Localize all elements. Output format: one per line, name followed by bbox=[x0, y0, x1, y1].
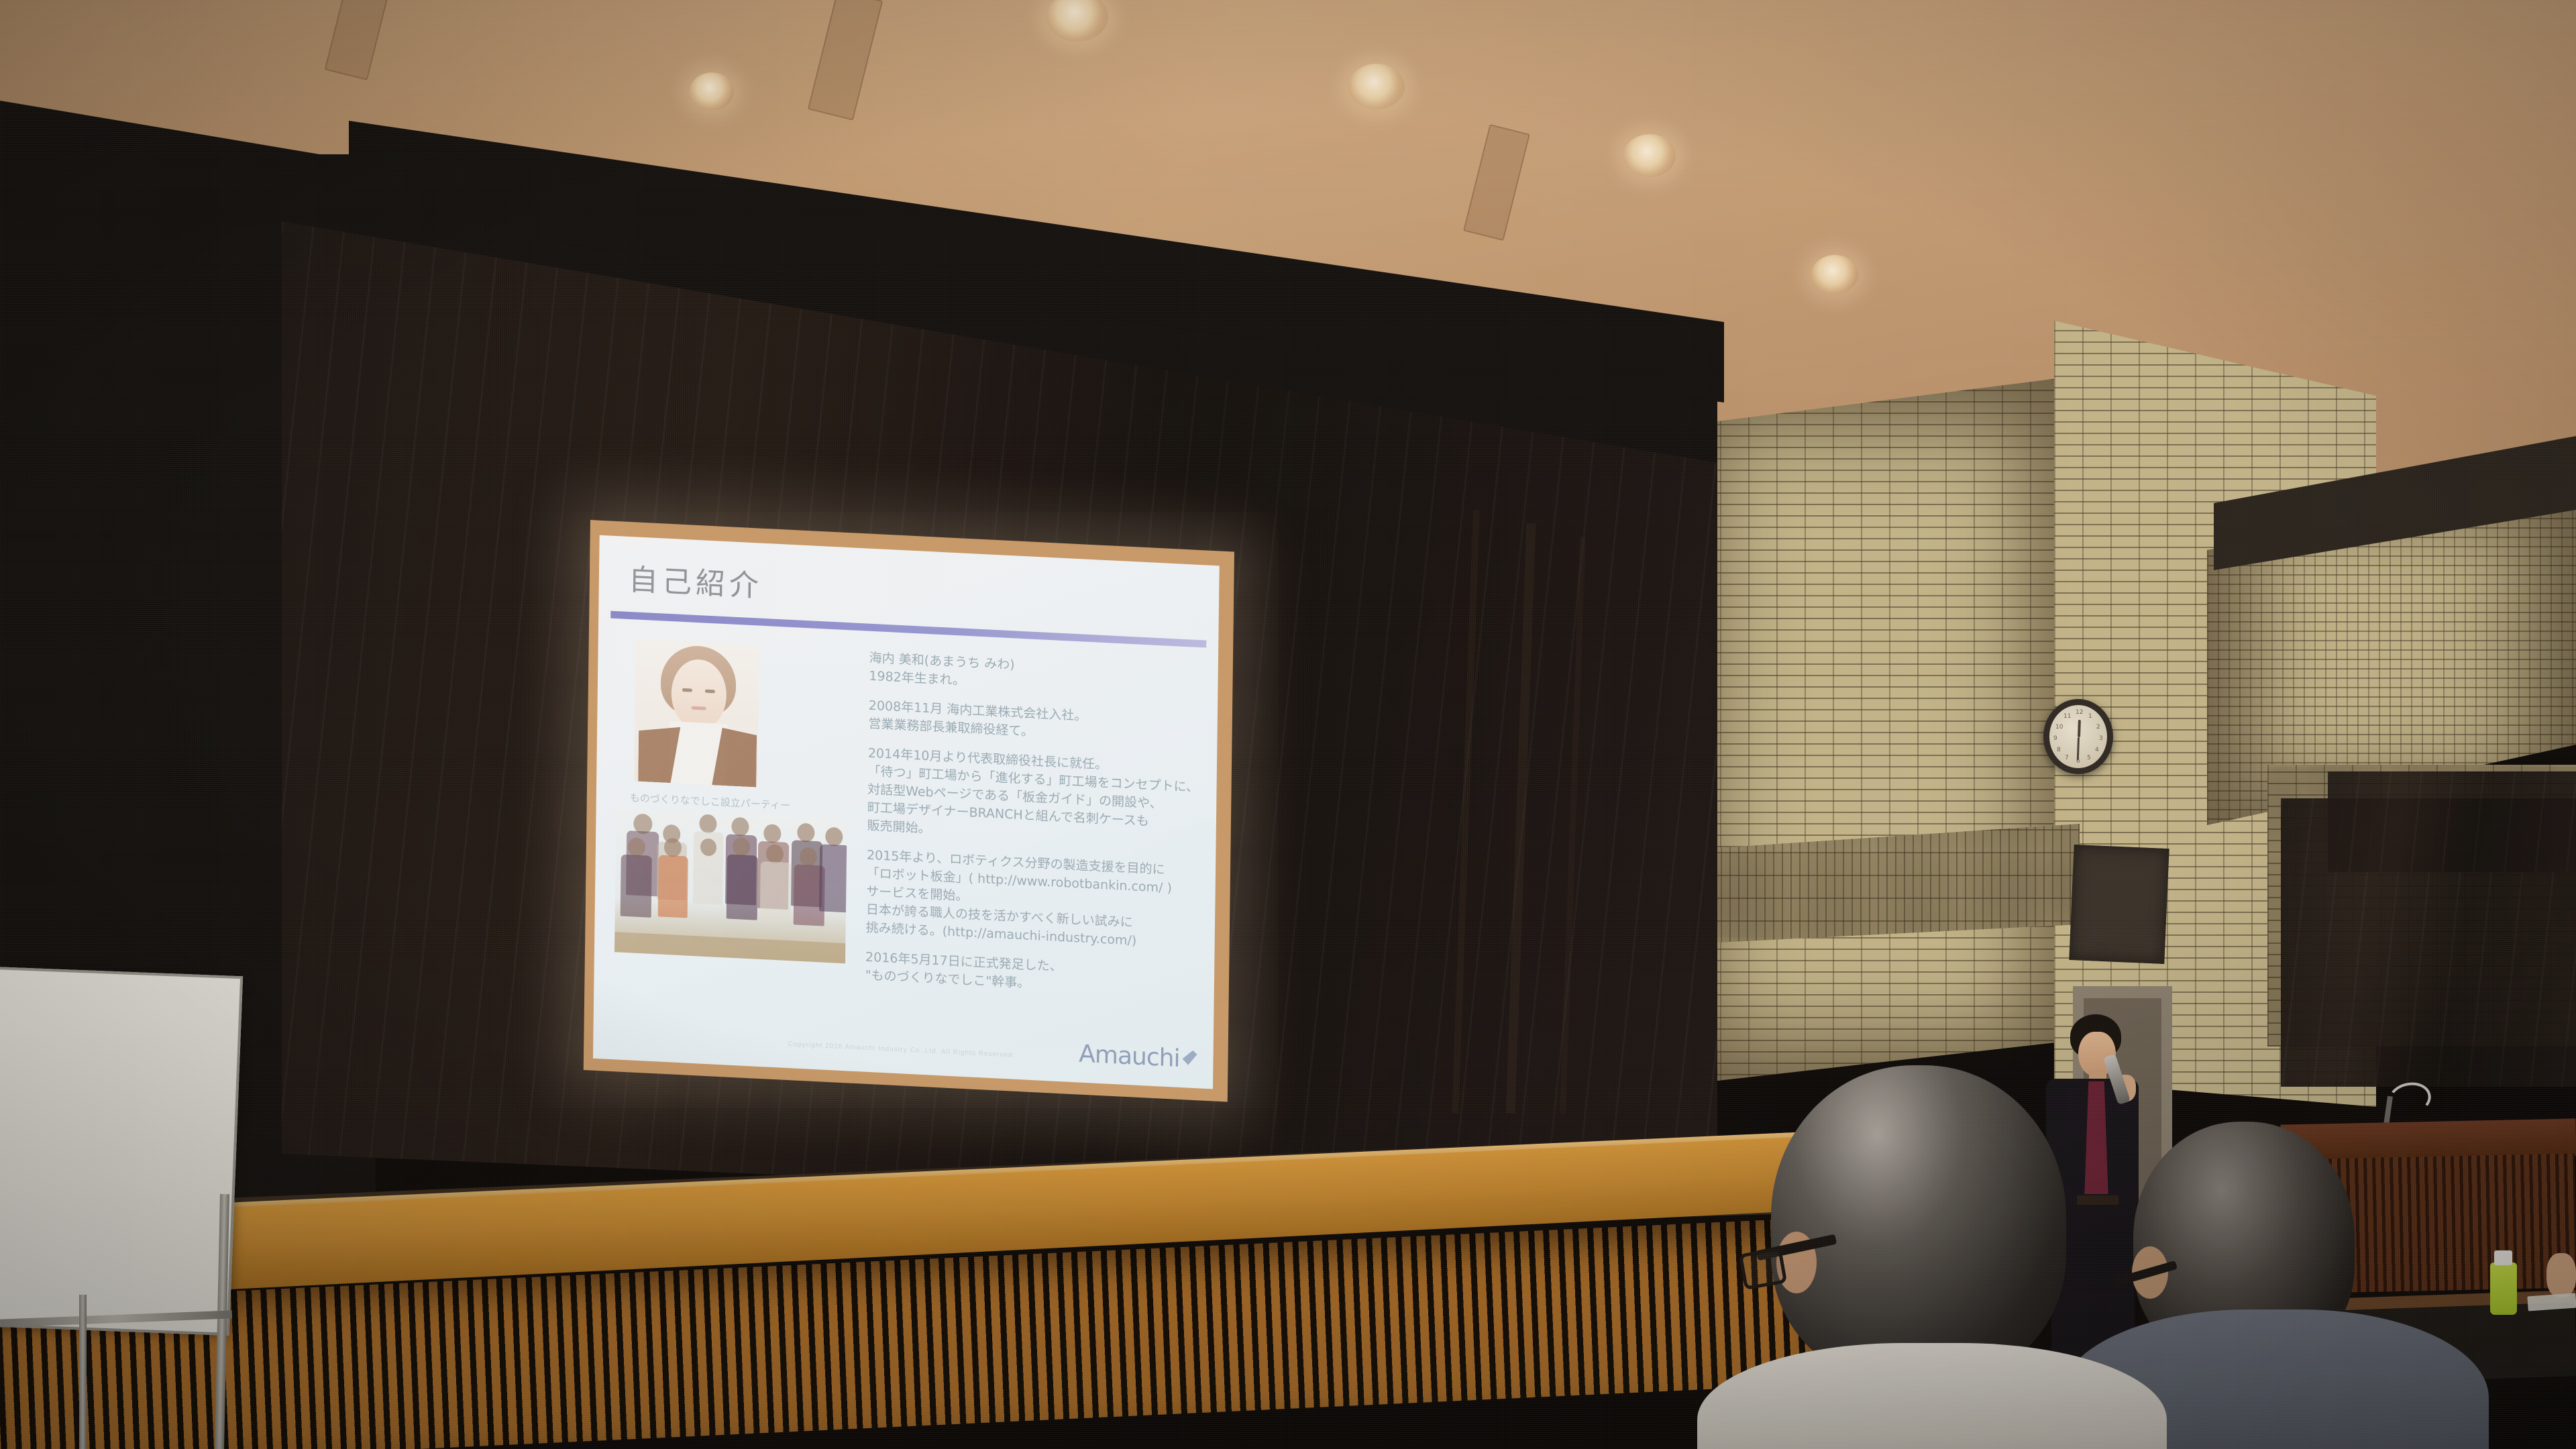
slide-bio-text: 海内 美和(あまうち みわ) 1982年生まれ。 2008年11月 海内工業株式… bbox=[865, 649, 1204, 1012]
bio-paragraph: 2008年11月 海内工業株式会社入社。 営業業務部長兼取締役経て。 bbox=[868, 697, 1204, 750]
ceiling-downlight bbox=[1623, 134, 1676, 177]
clock-hour-label: 9 bbox=[2053, 735, 2057, 742]
clock-hour-label: 10 bbox=[2055, 724, 2063, 731]
clock-hour-label: 3 bbox=[2099, 735, 2103, 742]
bio-paragraph: 2015年より、ロボティクス分野の製造支援を目的に 「ロボット板金」( http… bbox=[865, 846, 1202, 953]
clock-hour-label: 7 bbox=[2065, 755, 2069, 761]
whiteboard[interactable] bbox=[0, 967, 243, 1336]
clock-hour-label: 8 bbox=[2057, 747, 2061, 753]
group-photo-head bbox=[825, 827, 843, 847]
group-photo-person bbox=[819, 844, 847, 912]
group-photo-head bbox=[664, 838, 682, 857]
group-photo-head bbox=[763, 824, 781, 843]
group-photo bbox=[614, 807, 847, 963]
bottle-cap bbox=[2494, 1250, 2512, 1265]
bio-paragraph: 海内 美和(あまうち みわ) 1982年生まれ。 bbox=[869, 649, 1205, 702]
lectern-mic-stem bbox=[2383, 1096, 2393, 1126]
clock-hour-label: 4 bbox=[2095, 747, 2099, 753]
attendee-head-left bbox=[1771, 1065, 2066, 1381]
clock-hour-label: 11 bbox=[2063, 713, 2071, 720]
portrait-mouth bbox=[692, 706, 706, 710]
clock-hour-label: 12 bbox=[2076, 709, 2083, 716]
whiteboard-stand-leg bbox=[79, 1295, 87, 1449]
window-curtain-far-right bbox=[2328, 771, 2576, 872]
group-photo-person bbox=[621, 855, 652, 918]
company-logo: Amauchi bbox=[1079, 1040, 1197, 1074]
clock-face: 12 1 2 3 4 5 6 7 8 9 10 11 bbox=[2049, 705, 2107, 768]
clock-hour-label: 2 bbox=[2096, 724, 2100, 731]
group-photo-head bbox=[731, 817, 749, 837]
group-photo-person bbox=[658, 855, 688, 918]
portrait-eye bbox=[682, 688, 692, 692]
logo-mark-icon bbox=[1182, 1050, 1197, 1065]
group-photo-head bbox=[800, 847, 817, 867]
presentation-slide: 自己紹介 ものづくりなでしこ設立パーティー bbox=[593, 535, 1220, 1089]
portrait-photo bbox=[634, 639, 759, 787]
wall-clock: 12 1 2 3 4 5 6 7 8 9 10 11 bbox=[2043, 699, 2113, 774]
bio-paragraph: 2014年10月より代表取締役社長に就任。 「待つ」町工場から「進化する」町工場… bbox=[867, 745, 1203, 852]
group-photo-floor bbox=[614, 932, 845, 963]
clock-hour-label: 5 bbox=[2087, 755, 2091, 761]
group-photo-head bbox=[797, 823, 814, 843]
slide-title: 自己紹介 bbox=[629, 555, 763, 605]
group-photo-person bbox=[727, 854, 758, 920]
group-photo-head bbox=[699, 814, 716, 833]
clock-hour-hand bbox=[2078, 720, 2081, 737]
ceiling-downlight bbox=[1811, 255, 1858, 294]
wall-speaker-panel bbox=[2069, 845, 2169, 964]
group-photo-head bbox=[733, 837, 750, 857]
clock-minute-hand bbox=[2077, 737, 2080, 760]
group-photo-head bbox=[700, 838, 716, 856]
clock-hour-label: 1 bbox=[2088, 713, 2092, 720]
ceiling-downlight bbox=[1348, 64, 1405, 109]
attendee-hand bbox=[2546, 1253, 2576, 1297]
group-photo-person bbox=[760, 861, 792, 924]
portrait-eye bbox=[705, 690, 715, 694]
bio-paragraph: 2016年5月17日に正式発足した、 "ものづくりなでしこ"幹事。 bbox=[865, 948, 1201, 1001]
ceiling-downlight bbox=[690, 72, 734, 110]
tea-bottle[interactable] bbox=[2490, 1263, 2517, 1315]
slide-copyright: Copyright 2016 Amauchi Industry Co.,Ltd.… bbox=[788, 1040, 1015, 1059]
group-photo-head bbox=[628, 837, 645, 857]
projection-screen: 自己紹介 ものづくりなでしこ設立パーティー bbox=[584, 520, 1234, 1102]
eyeglasses-lens-left bbox=[1739, 1247, 1787, 1290]
brick-wall-angled-left bbox=[1664, 376, 2080, 1087]
auditorium-scene: 12 1 2 3 4 5 6 7 8 9 10 11 自己紹介 bbox=[0, 0, 2576, 1449]
company-logo-text: Amauchi bbox=[1079, 1040, 1180, 1073]
